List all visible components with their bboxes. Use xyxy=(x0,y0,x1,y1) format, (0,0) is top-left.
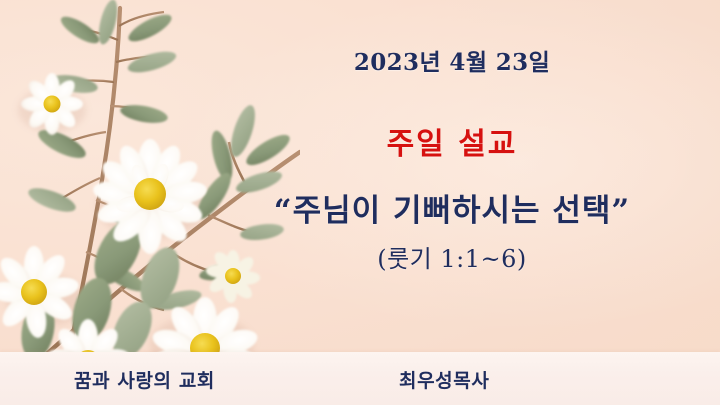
service-date: 2023년 4월 23일 xyxy=(250,49,654,77)
sermon-label: 주일 설교 xyxy=(250,127,654,163)
sermon-title: “주님이 기뻐하시는 선택” xyxy=(236,192,668,231)
sermon-slide: 2023년 4월 23일 주일 설교 “주님이 기뻐하시는 선택” (룻기 1:… xyxy=(0,0,720,405)
slide-text-column: 2023년 4월 23일 주일 설교 “주님이 기뻐하시는 선택” (룻기 1:… xyxy=(250,0,654,352)
church-name: 꿈과 사랑의 교회 xyxy=(74,366,215,393)
scripture-reference: (룻기 1:1~6) xyxy=(250,244,654,274)
footer-bar: 꿈과 사랑의 교회 최우성목사 xyxy=(0,352,720,405)
pastor-name: 최우성목사 xyxy=(399,366,489,393)
footer-inner: 꿈과 사랑의 교회 최우성목사 xyxy=(0,352,720,405)
